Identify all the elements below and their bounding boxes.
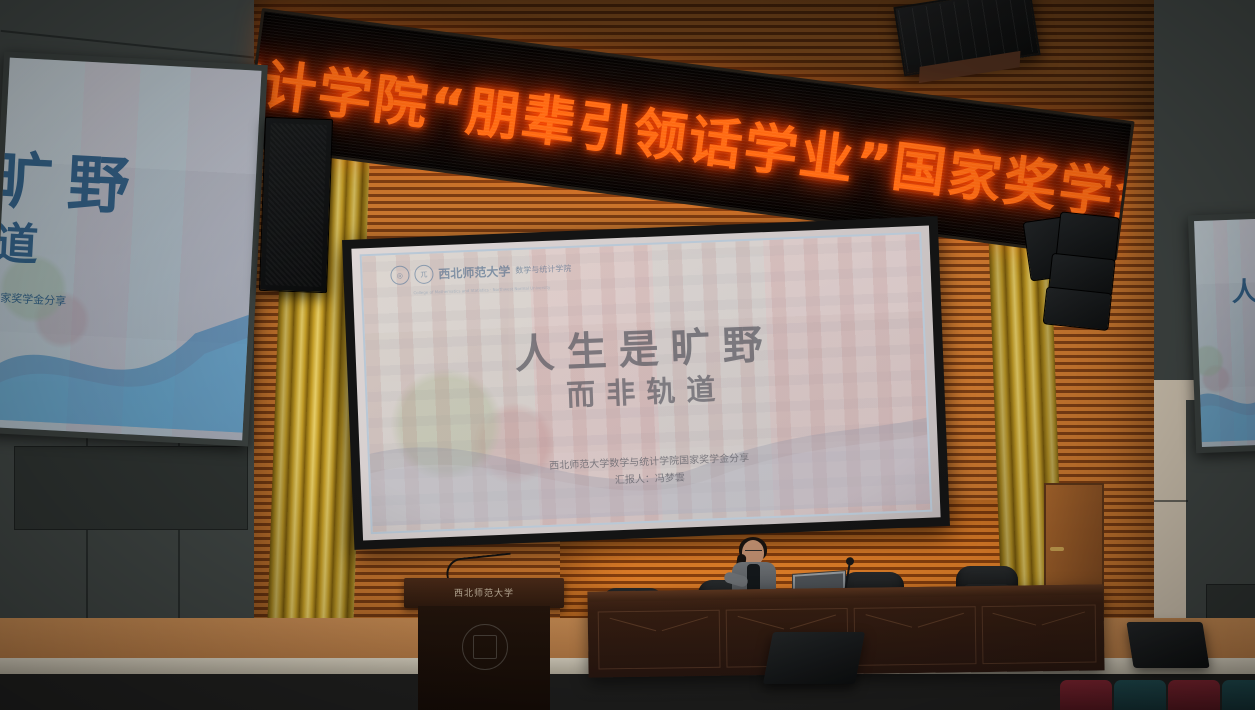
array-unit bbox=[1043, 286, 1113, 331]
presentation-slide: ◎ 兀 西北师范大学 数学与统计学院 College of Mathematic… bbox=[360, 232, 933, 534]
side-display-right-text: 人 bbox=[1231, 271, 1255, 309]
side-display-right-surface: 人 bbox=[1194, 219, 1255, 447]
stage-wedge-monitor bbox=[763, 632, 865, 684]
audience-seat bbox=[1168, 680, 1220, 710]
table-panel bbox=[598, 610, 721, 670]
side-display-left-surface: 旷野 道 国家奖学金分享 bbox=[0, 58, 262, 441]
audience-seat bbox=[1114, 680, 1166, 710]
university-seal-icon: ◎ bbox=[390, 265, 410, 285]
university-seal-icon bbox=[462, 624, 508, 670]
table-panel bbox=[854, 606, 977, 666]
wave-graphic-left bbox=[0, 249, 262, 433]
side-display-left: 旷野 道 国家奖学金分享 bbox=[0, 51, 268, 446]
audience-seat bbox=[1060, 680, 1112, 710]
speaker-grill bbox=[265, 123, 327, 287]
slide-university-name: 西北师范大学 bbox=[438, 262, 511, 282]
podium: 西北师范大学 bbox=[404, 578, 564, 710]
door-handle-icon bbox=[1050, 547, 1064, 551]
slide-college-name: 数学与统计学院 bbox=[515, 263, 571, 276]
ceiling-projector bbox=[893, 0, 1040, 76]
table-panel bbox=[982, 605, 1097, 665]
audience-seat-row bbox=[1060, 676, 1255, 710]
auditorium-scene: 数学与统计学院“朋辈引领话学业”国家奖学金分享会 旷野 道 国家奖学金分享 人 bbox=[0, 0, 1255, 710]
audience-seat bbox=[1222, 680, 1255, 710]
projection-screen: ◎ 兀 西北师范大学 数学与统计学院 College of Mathematic… bbox=[342, 216, 950, 550]
side-display-right: 人 bbox=[1188, 213, 1255, 453]
stage-wedge-monitor bbox=[1126, 622, 1209, 668]
projection-screen-surface: ◎ 兀 西北师范大学 数学与统计学院 College of Mathematic… bbox=[351, 226, 940, 541]
wave-graphic-right bbox=[1196, 336, 1255, 442]
line-array-speaker-left bbox=[259, 117, 333, 293]
podium-top: 西北师范大学 bbox=[404, 578, 564, 608]
wall-display-panel-left bbox=[14, 446, 248, 530]
podium-name-plate: 西北师范大学 bbox=[404, 586, 564, 599]
seal-inner bbox=[473, 635, 497, 659]
glasses-icon bbox=[745, 550, 762, 555]
college-seal-icon: 兀 bbox=[414, 264, 434, 284]
